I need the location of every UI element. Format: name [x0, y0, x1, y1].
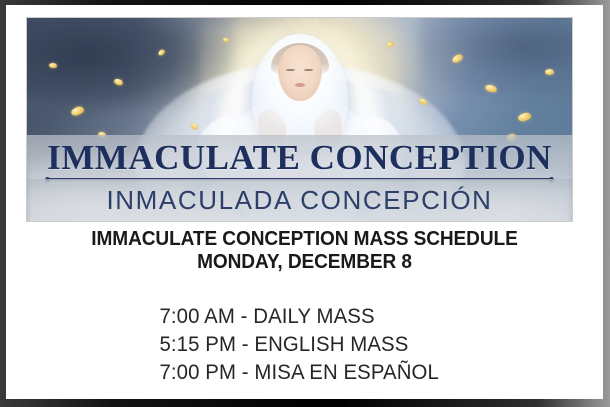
mass-time-daily: 7:00 AM - DAILY MASS — [159, 303, 450, 331]
banner-subtitle-band: INMACULADA CONCEPCIÓN — [27, 179, 572, 221]
schedule-heading-primary: IMMACULATE CONCEPTION MASS SCHEDULE — [27, 227, 582, 250]
schedule-headings: IMMACULATE CONCEPTION MASS SCHEDULE MOND… — [6, 227, 603, 274]
poster-frame: IMMACULATE CONCEPTION INMACULADA CONCEPC… — [0, 0, 610, 407]
mass-time-spanish: 7:00 PM - MISA EN ESPAÑOL — [159, 359, 450, 387]
banner-title-english: IMMACULATE CONCEPTION — [47, 140, 552, 175]
gold-petal — [48, 62, 57, 68]
mass-time-english: 5:15 PM - ENGLISH MASS — [159, 331, 450, 359]
gold-petal — [544, 68, 554, 75]
eye-left — [286, 69, 295, 72]
eye-right — [304, 69, 313, 72]
banner-title-spanish: INMACULADA CONCEPCIÓN — [106, 187, 492, 213]
poster-body: IMMACULATE CONCEPTION INMACULADA CONCEPC… — [6, 5, 603, 399]
mass-times-list: 7:00 AM - DAILY MASS 5:15 PM - ENGLISH M… — [6, 303, 603, 387]
immaculate-conception-banner-image: IMMACULATE CONCEPTION INMACULADA CONCEPC… — [27, 18, 572, 221]
banner-title-band: IMMACULATE CONCEPTION — [27, 135, 572, 179]
schedule-heading-date: MONDAY, DECEMBER 8 — [27, 250, 582, 273]
mouth — [295, 83, 305, 87]
